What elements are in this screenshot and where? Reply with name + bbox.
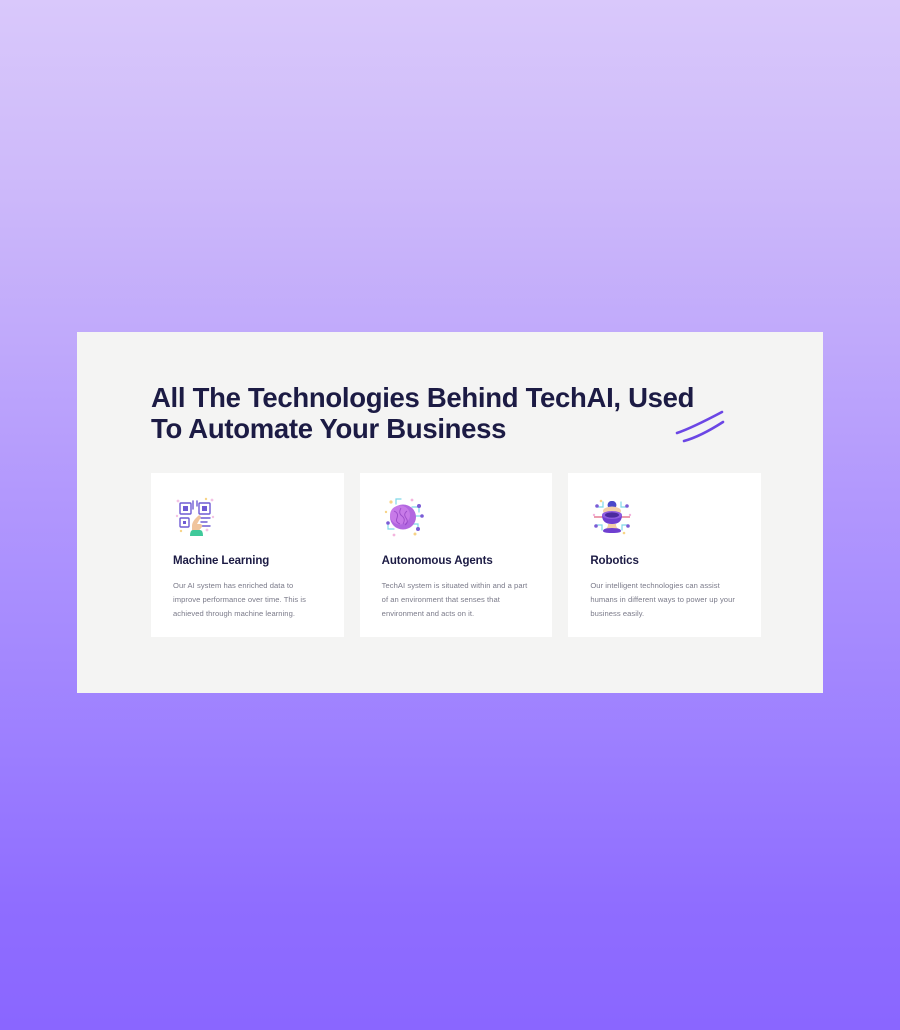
feature-card[interactable]: Robotics Our intelligent technologies ca… (568, 473, 761, 637)
feature-card-title: Robotics (590, 555, 739, 567)
feature-card-description: Our intelligent technologies can assist … (590, 579, 739, 622)
robot-circuit-icon (590, 495, 634, 539)
swoosh-underline-icon (673, 410, 733, 446)
page-title-line-2: To Automate Your Business (151, 413, 731, 444)
page-title: All The Technologies Behind TechAI, Used… (151, 382, 731, 444)
feature-card[interactable]: Machine Learning Our AI system has enric… (151, 473, 344, 637)
content-panel: All The Technologies Behind TechAI, Used… (77, 332, 823, 693)
feature-card-list: Machine Learning Our AI system has enric… (151, 473, 761, 637)
brain-circuit-icon (382, 495, 426, 539)
page-title-line-1: All The Technologies Behind TechAI, Used (151, 382, 731, 413)
feature-card[interactable]: Autonomous Agents TechAI system is situa… (360, 473, 553, 637)
hand-circuit-icon (173, 495, 217, 539)
feature-card-title: Autonomous Agents (382, 555, 531, 567)
feature-card-description: TechAI system is situated within and a p… (382, 579, 531, 622)
feature-card-description: Our AI system has enriched data to impro… (173, 579, 322, 622)
feature-card-title: Machine Learning (173, 555, 322, 567)
